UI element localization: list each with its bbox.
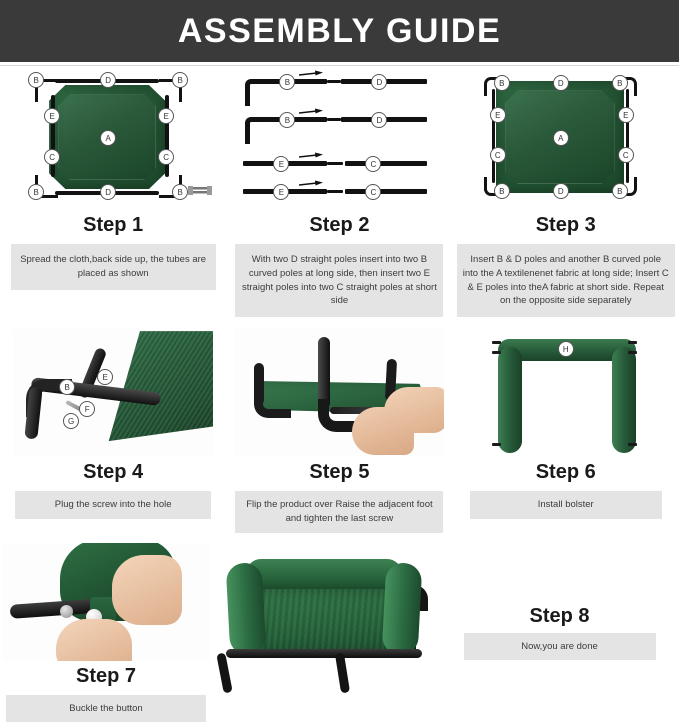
insert-arrow-icon-1 (299, 70, 323, 79)
assembly-guide-page: ASSEMBLY GUIDE B D B (0, 0, 679, 677)
step-3-title: Step 3 (536, 214, 596, 237)
step-6-panel: H Step 6 Install bolster (453, 327, 679, 533)
label-b-top-right-3: B (612, 75, 628, 91)
bed-back-bolster (246, 559, 402, 589)
cloth-tube-diagram: B D B E E A C C B D B (13, 73, 213, 205)
pole-pair-bd-2: B D (241, 117, 437, 141)
label-c-left-3: C (490, 147, 506, 163)
corner-screw-photo: B E F G (13, 329, 213, 457)
label-b-pole-2: B (279, 112, 295, 128)
step-8-illustration (212, 541, 440, 695)
step-3-illustration: B D B E E A C C B D B (453, 66, 679, 212)
label-b-pole-1: B (279, 74, 295, 90)
left-foot-bend (254, 391, 291, 418)
strap-top-left-2 (492, 351, 501, 354)
bed-front-rail (226, 649, 422, 658)
page-header: ASSEMBLY GUIDE (0, 0, 679, 65)
label-b-bottom-left-3: B (494, 183, 510, 199)
pole-joint-2 (327, 118, 341, 121)
bed-front-leg-left (216, 652, 232, 693)
insert-arrow-icon-2 (299, 108, 323, 117)
bed-front-leg-right (335, 652, 350, 693)
screw-hardware-icon (187, 183, 213, 199)
pole-c-shaft-1 (345, 161, 427, 166)
label-a-fabric-3: A (553, 130, 569, 146)
bolster-right-section (612, 347, 636, 453)
label-e-right: E (158, 108, 174, 124)
bed-left-bolster (226, 562, 267, 656)
step-1-illustration: B D B E E A C C B D B (0, 66, 226, 212)
label-d-bottom: D (100, 184, 116, 200)
label-e-step4: E (97, 369, 113, 385)
steps-row-1: B D B E E A C C B D B (0, 66, 679, 317)
pole-c-shaft-2 (345, 189, 427, 194)
step-5-panel: Step 5 Flip the product over Raise the a… (226, 327, 452, 533)
strap-top-right (628, 341, 637, 344)
step-4-panel: B E F G Step 4 Plug the screw into the h… (0, 327, 226, 533)
label-b-top-right: B (172, 72, 188, 88)
insert-arrow-icon-3 (299, 152, 323, 161)
step-2-title: Step 2 (309, 214, 369, 237)
bed-seat-fabric (254, 589, 396, 657)
step-7-caption: Buckle the button (6, 695, 206, 722)
pole-joint-1 (327, 80, 341, 83)
pole-assembly-diagram: B D B D (241, 73, 437, 205)
step-1-caption: Spread the cloth,back side up, the tubes… (11, 244, 216, 290)
step-5-title: Step 5 (309, 461, 369, 484)
steps-row-3: Step 7 Buckle the button (0, 541, 679, 722)
label-d-bottom-3: D (553, 183, 569, 199)
buckle-button-photo (2, 543, 210, 661)
step-2-panel: B D B D (226, 66, 452, 317)
label-g-step4: G (63, 413, 79, 429)
label-b-bottom-right-3: B (612, 183, 628, 199)
frame-leg-left (492, 89, 496, 183)
label-c-right: C (158, 149, 174, 165)
hand-left (352, 407, 414, 455)
pole-joint-3 (327, 162, 343, 165)
label-e-pole-2: E (273, 184, 289, 200)
bolster-left-section (498, 347, 522, 453)
bolster-diagram: H (476, 329, 656, 457)
hand-lower (56, 619, 132, 661)
step-4-title: Step 4 (83, 461, 143, 484)
label-e-pole-1: E (273, 156, 289, 172)
strap-bottom-right (628, 443, 637, 446)
step-7-title: Step 7 (76, 665, 136, 688)
step-2-caption: With two D straight poles insert into tw… (235, 244, 443, 317)
page-title: ASSEMBLY GUIDE (178, 12, 501, 51)
pole-pair-ec-2: E C (241, 189, 437, 213)
pole-pair-bd-1: B D (241, 79, 437, 103)
label-d-top-3: D (553, 75, 569, 91)
steps-row-2: B E F G Step 4 Plug the screw into the h… (0, 327, 679, 533)
label-b-top-left-3: B (494, 75, 510, 91)
label-d-pole-1: D (371, 74, 387, 90)
label-e-left-3: E (490, 107, 506, 123)
step-1-title: Step 1 (83, 214, 143, 237)
step-8-panel: Step 8 Now,you are done (440, 603, 679, 661)
strap-bottom-left (492, 443, 501, 446)
step-8-caption: Now,you are done (464, 633, 656, 661)
label-c-pole-2: C (365, 184, 381, 200)
pole-pair-ec-1: E C (241, 161, 437, 185)
step-6-illustration: H (453, 327, 679, 459)
mesh-fabric (99, 331, 213, 441)
insert-arrow-icon-4 (299, 180, 323, 189)
frame-screw (60, 605, 73, 618)
label-c-pole-1: C (365, 156, 381, 172)
step-8-title: Step 8 (529, 605, 589, 628)
step-6-caption: Install bolster (470, 491, 662, 519)
label-c-right-3: C (618, 147, 634, 163)
label-b-bottom-right: B (172, 184, 188, 200)
bed-right-bolster (382, 562, 423, 656)
flip-product-photo (234, 329, 444, 457)
frame-leg-right (626, 89, 630, 183)
assembled-frame-diagram: B D B E E A C C B D B (466, 73, 666, 205)
step-4-caption: Plug the screw into the hole (15, 491, 211, 519)
pole-joint-4 (327, 190, 343, 193)
label-d-pole-2: D (371, 112, 387, 128)
strap-top-left (492, 341, 501, 344)
hand-upper (112, 555, 182, 625)
label-h-bolster: H (558, 341, 574, 357)
step-6-title: Step 6 (536, 461, 596, 484)
finished-pet-bed (212, 545, 440, 695)
step-3-caption: Insert B & D poles and another B curved … (457, 244, 675, 317)
step-7-panel: Step 7 Buckle the button (0, 541, 212, 722)
step-1-panel: B D B E E A C C B D B (0, 66, 226, 317)
label-f-step4: F (79, 401, 95, 417)
step-7-8-images: Step 7 Buckle the button (0, 541, 440, 722)
step-7-illustration (0, 541, 212, 663)
step-3-panel: B D B E E A C C B D B Step 3 Insert B & … (453, 66, 679, 317)
step-5-caption: Flip the product over Raise the adjacent… (235, 491, 443, 533)
strap-top-right-2 (628, 351, 637, 354)
label-e-right-3: E (618, 107, 634, 123)
step-4-illustration: B E F G (0, 327, 226, 459)
step-2-illustration: B D B D (226, 66, 452, 212)
step-5-illustration (226, 327, 452, 459)
